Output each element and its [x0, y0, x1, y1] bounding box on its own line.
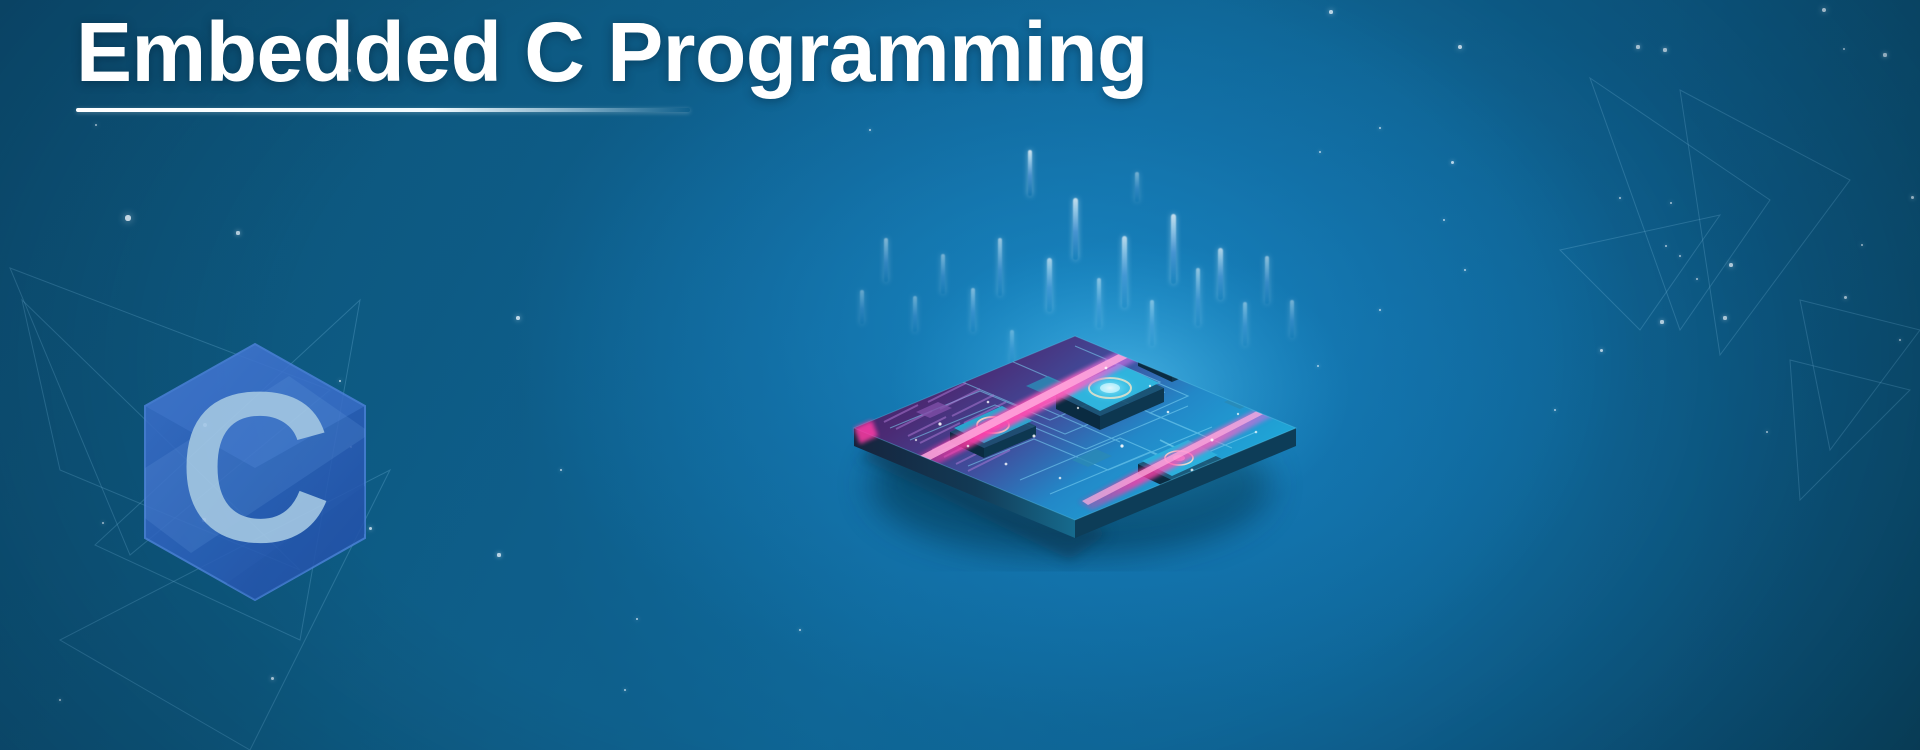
star-dot — [497, 553, 500, 556]
star-dot — [1636, 45, 1639, 48]
course-banner: Embedded C Programming — [0, 0, 1920, 750]
star-dot — [1883, 53, 1886, 56]
star-dot — [1679, 255, 1681, 257]
c-logo-svg: C — [139, 341, 371, 603]
star-dot — [125, 215, 130, 220]
network-triangle — [1590, 78, 1770, 330]
microchip-svg — [820, 140, 1330, 590]
network-triangle — [1680, 90, 1850, 355]
star-dot — [1665, 245, 1668, 248]
title-block: Embedded C Programming — [76, 8, 1148, 112]
star-dot — [236, 231, 239, 234]
star-dot — [1766, 431, 1769, 434]
star-dot — [1329, 10, 1333, 14]
star-dot — [560, 469, 563, 472]
star-dot — [869, 129, 872, 132]
star-dot — [1670, 202, 1673, 205]
star-dot — [1600, 349, 1603, 352]
star-dot — [799, 629, 801, 631]
star-dot — [1696, 278, 1699, 281]
title-underline — [76, 108, 690, 112]
network-triangle — [1560, 215, 1720, 330]
network-triangle — [1790, 360, 1910, 500]
star-dot — [59, 699, 62, 702]
star-dot — [1451, 161, 1454, 164]
page-title: Embedded C Programming — [76, 8, 1148, 97]
star-dot — [1464, 269, 1467, 272]
star-dot — [1899, 339, 1902, 342]
star-dot — [1660, 320, 1663, 323]
star-dot — [1379, 309, 1382, 312]
star-dot — [1554, 409, 1556, 411]
star-dot — [1443, 219, 1446, 222]
star-dot — [102, 522, 105, 525]
star-dot — [1844, 296, 1847, 299]
star-dot — [95, 124, 98, 127]
c-language-logo: C — [139, 341, 371, 603]
star-dot — [1822, 8, 1826, 12]
star-dot — [271, 677, 274, 680]
star-dot — [1723, 316, 1726, 319]
c-logo-letter: C — [178, 348, 333, 587]
star-dot — [1458, 45, 1462, 49]
star-dot — [624, 689, 626, 691]
star-dot — [1843, 48, 1846, 51]
star-dot — [1379, 127, 1382, 130]
star-dot — [1663, 48, 1666, 51]
star-dot — [1619, 197, 1622, 200]
star-dot — [1729, 263, 1733, 267]
star-dot — [516, 316, 520, 320]
network-triangle — [1800, 300, 1920, 450]
star-dot — [1861, 244, 1864, 247]
star-dot — [1911, 196, 1914, 199]
star-dot — [636, 618, 639, 621]
microchip-illustration — [820, 140, 1330, 590]
